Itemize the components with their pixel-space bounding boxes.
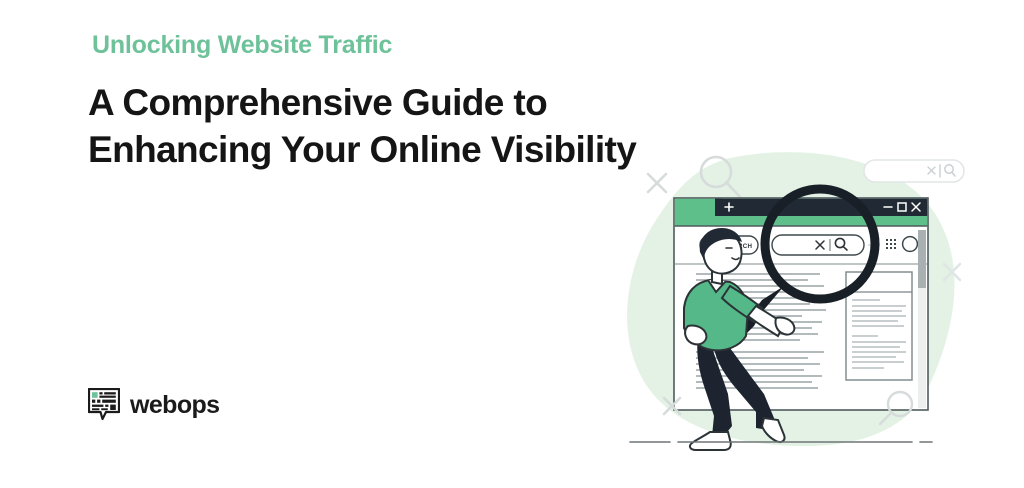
web-search-illustration: WEB SEARCH bbox=[612, 140, 972, 460]
hero-banner: Unlocking Website Traffic A Comprehensiv… bbox=[0, 0, 1024, 488]
x-mark-icon bbox=[648, 174, 666, 192]
speech-bubble-window-icon bbox=[88, 388, 120, 422]
brand-name: webops bbox=[130, 391, 219, 420]
hero-eyebrow: Unlocking Website Traffic bbox=[92, 30, 648, 60]
search-pill-decoration bbox=[864, 160, 964, 182]
brand-logo[interactable]: webops bbox=[88, 388, 219, 422]
vertical-scrollbar bbox=[918, 230, 926, 408]
hero-text-block: Unlocking Website Traffic A Comprehensiv… bbox=[88, 30, 648, 174]
avatar-circle-icon bbox=[903, 237, 918, 252]
grid-dots-icon bbox=[886, 239, 896, 249]
page-title: A Comprehensive Guide to Enhancing Your … bbox=[88, 80, 648, 174]
